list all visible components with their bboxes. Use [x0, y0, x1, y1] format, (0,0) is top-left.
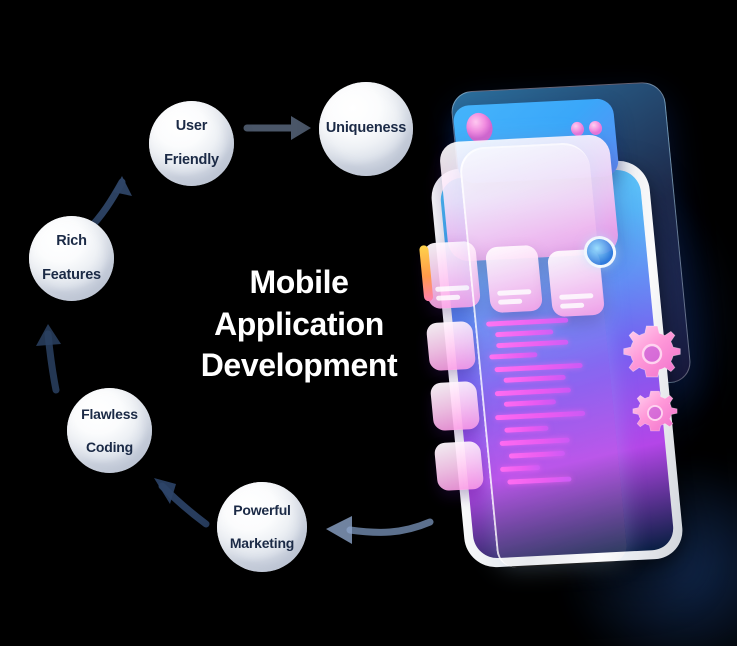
cycle-node-user-friendly[interactable]: User Friendly — [149, 101, 234, 186]
title-line-3: Development — [182, 345, 416, 387]
cycle-node-label: Rich Features — [34, 233, 109, 284]
avatar — [465, 112, 494, 143]
cycle-node-uniqueness[interactable]: Uniqueness — [319, 82, 413, 176]
card-line — [435, 285, 469, 292]
stack-card — [430, 381, 481, 431]
stack-card — [426, 321, 477, 371]
card-line — [559, 293, 593, 300]
mini-card — [423, 241, 481, 309]
cycle-node-rich-features[interactable]: Rich Features — [29, 216, 114, 301]
cycle-node-powerful-marketing[interactable]: Powerful Marketing — [217, 482, 307, 572]
gear-large-icon — [620, 322, 684, 386]
card-line — [497, 289, 531, 296]
smartphone-illustration — [404, 86, 724, 566]
mini-card — [485, 245, 543, 313]
cycle-node-label: Flawless Coding — [73, 406, 146, 456]
cycle-node-flawless-coding[interactable]: Flawless Coding — [67, 388, 152, 473]
card-line — [560, 303, 584, 309]
arrow-flawless-to-rich — [22, 308, 102, 398]
header-dot-icon — [570, 122, 584, 137]
cycle-node-label: Powerful Marketing — [222, 502, 302, 552]
arrow-marketing-to-flawless — [128, 458, 228, 538]
cycle-node-label: User Friendly — [156, 118, 227, 169]
title-line-2: Application — [182, 304, 416, 346]
header-dot-icon — [588, 121, 602, 136]
title-line-1: Mobile — [182, 262, 416, 304]
card-line — [436, 295, 460, 301]
code-lines — [480, 315, 640, 531]
card-line — [498, 299, 522, 305]
poster-canvas: User Friendly Uniqueness Rich Features F… — [0, 0, 737, 646]
page-title: Mobile Application Development — [182, 262, 416, 387]
cycle-node-label: Uniqueness — [322, 120, 410, 137]
stack-card — [434, 441, 485, 491]
arrow-user-to-uniqueness — [243, 108, 323, 148]
gear-small-icon — [630, 388, 680, 438]
